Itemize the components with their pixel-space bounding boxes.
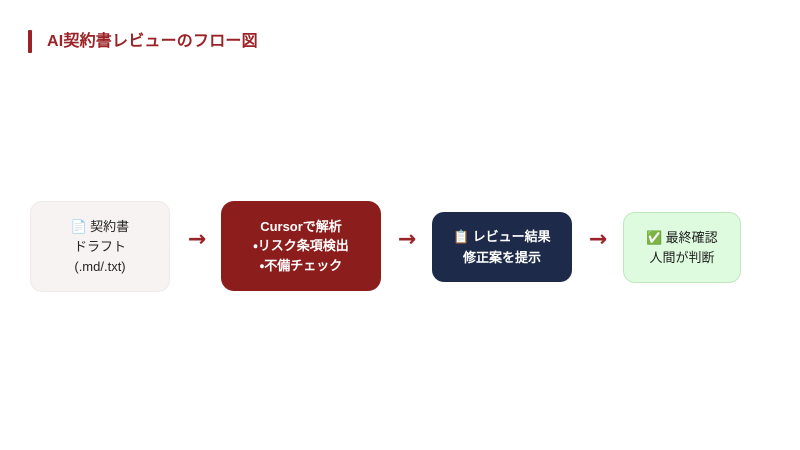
flow-node-line-text: レビュー結果 (473, 229, 551, 244)
clipboard-icon: 📋 (453, 230, 469, 245)
flow-node-line: 📋レビュー結果 (453, 227, 550, 248)
document-icon: 📄 (71, 220, 87, 235)
flow-node-line-text: 契約書 (90, 219, 129, 234)
arrow-doc-to-analyze-icon: → (184, 228, 210, 252)
flow-node-contract-draft[interactable]: 📄契約書 ドラフト (.md/.txt) (30, 201, 170, 292)
page-title: AI契約書レビューのフロー図 (47, 30, 258, 53)
flow-node-line: ・リスク条項検出 (253, 236, 348, 256)
flow-node-line: ・不備チェック (260, 256, 342, 276)
flow-node-review-result[interactable]: 📋レビュー結果 修正案を提示 (432, 212, 572, 282)
flow-node-line: 修正案を提示 (463, 248, 541, 268)
flow-node-line-text: 最終確認 (666, 230, 718, 245)
flow-node-line: (.md/.txt) (74, 257, 125, 277)
title-accent-bar (28, 30, 32, 53)
check-mark-button-icon: ✅ (646, 231, 662, 246)
flow-node-line: 📄契約書 (71, 217, 129, 238)
flow-node-line: Cursorで解析 (260, 217, 342, 237)
flow-node-final-check[interactable]: ✅最終確認 人間が判断 (623, 212, 741, 283)
flow-node-line: ドラフト (74, 237, 126, 257)
flow-node-cursor-analysis[interactable]: Cursorで解析 ・リスク条項検出 ・不備チェック (221, 201, 381, 291)
arrow-result-to-final-icon: → (585, 228, 611, 252)
flow-diagram: 📄契約書 ドラフト (.md/.txt) → Cursorで解析 ・リスク条項検… (0, 190, 800, 300)
page-title-row: AI契約書レビューのフロー図 (28, 29, 258, 53)
arrow-analyze-to-result-icon: → (394, 228, 420, 252)
flow-node-line: 人間が判断 (649, 248, 714, 268)
flow-node-line: ✅最終確認 (646, 228, 717, 249)
